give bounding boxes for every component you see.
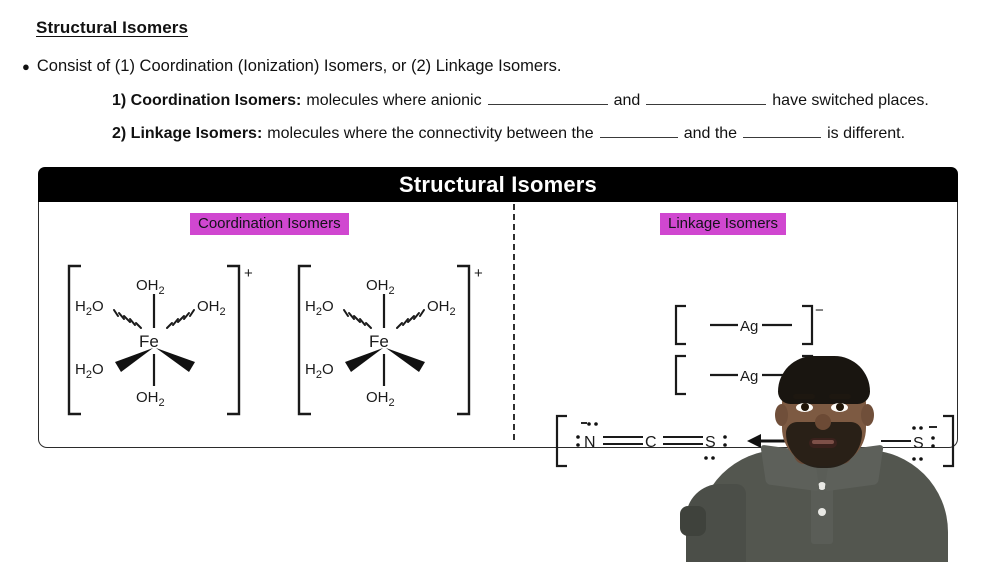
presenter-pupil-left <box>801 403 809 411</box>
metal-label-2: Fe <box>369 332 389 351</box>
slide-canvas: Structural Isomers ● Consist of (1) Coor… <box>0 0 1000 562</box>
coordination-blank-2[interactable] <box>646 91 766 105</box>
page-title: Structural Isomers <box>36 18 188 38</box>
presenter-ear-left <box>775 404 788 426</box>
ag-structure-svg-1: − Ag <box>634 300 844 350</box>
label-coordination-isomers: Coordination Isomers <box>190 213 349 235</box>
presenter-shirt-button-2 <box>818 508 826 516</box>
metal-label-1: Fe <box>139 332 159 351</box>
presenter-brow-right <box>829 394 851 399</box>
ag-charge-1: − <box>815 302 824 319</box>
linkage-blank-1[interactable] <box>600 124 678 138</box>
fe-complex-svg-1: + <box>57 254 267 426</box>
coordination-blank-1[interactable] <box>488 91 608 105</box>
linkage-isomers-lead: 2) Linkage Isomers: <box>112 125 262 143</box>
coordination-isomers-seg1: molecules where anionic <box>306 92 481 110</box>
ligand-bottom-2: OH2 <box>366 389 395 409</box>
ligand-top-1: OH2 <box>136 277 165 297</box>
coordination-isomers-definition: 1) Coordination Isomers: molecules where… <box>112 91 929 110</box>
presenter-video-overlay <box>676 356 966 562</box>
charge-2: + <box>474 265 483 282</box>
linkage-structure-1: − Ag <box>634 300 844 350</box>
linkage-blank-2[interactable] <box>743 124 821 138</box>
atom-c: C <box>645 434 657 451</box>
coordination-structure-2: + <box>287 254 497 426</box>
presenter-ear-right <box>861 404 874 426</box>
charge-1: + <box>244 265 253 282</box>
card-header: Structural Isomers <box>38 167 958 202</box>
ag-label-1: Ag <box>740 318 758 335</box>
label-linkage-isomers: Linkage Isomers <box>660 213 786 235</box>
coordination-isomers-seg3: have switched places. <box>772 92 929 110</box>
coordination-isomers-lead: 1) Coordination Isomers: <box>112 92 301 110</box>
bullet-dot-icon: ● <box>22 57 30 77</box>
ligand-lower-left-2: H2O <box>305 361 334 381</box>
presenter-hair <box>778 356 870 404</box>
presenter-brow-left <box>793 394 815 399</box>
card-header-title: Structural Isomers <box>399 172 597 198</box>
bullet-line: ● Consist of (1) Coordination (Ionizatio… <box>22 57 561 77</box>
linkage-isomers-seg2: and the <box>684 125 737 143</box>
ligand-top-2: OH2 <box>366 277 395 297</box>
ligand-lower-left-1: H2O <box>75 361 104 381</box>
atom-n: N <box>584 434 596 451</box>
linkage-isomers-seg1: molecules where the connectivity between… <box>267 125 593 143</box>
ligand-upper-right-2: OH2 <box>427 298 456 318</box>
presenter-sleeve <box>680 506 706 536</box>
linkage-isomers-seg3: is different. <box>827 125 905 143</box>
presenter-nose <box>815 414 831 430</box>
coordination-structure-1: + <box>57 254 267 426</box>
presenter-lip <box>812 440 834 444</box>
presenter-pupil-right <box>836 403 844 411</box>
section-divider <box>513 204 515 440</box>
linkage-isomers-definition: 2) Linkage Isomers: molecules where the … <box>112 124 905 143</box>
fe-complex-svg-2: + <box>287 254 497 426</box>
ligand-upper-left-1: H2O <box>75 298 104 318</box>
ligand-upper-right-1: OH2 <box>197 298 226 318</box>
ligand-upper-left-2: H2O <box>305 298 334 318</box>
coordination-isomers-seg2: and <box>614 92 641 110</box>
ligand-bottom-1: OH2 <box>136 389 165 409</box>
bullet-text: Consist of (1) Coordination (Ionization)… <box>37 57 562 76</box>
